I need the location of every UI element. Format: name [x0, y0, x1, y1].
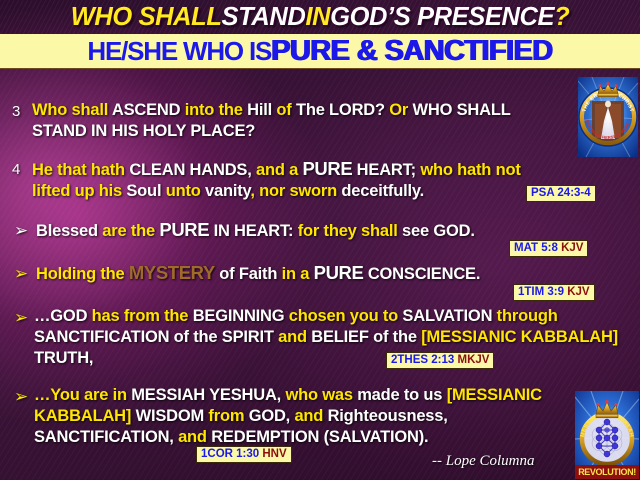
- citation-matthew: MAT 5:8 KJV: [509, 240, 588, 257]
- bullet-4-run-6: from: [208, 407, 248, 425]
- bullet-4-run-8: and: [294, 407, 327, 425]
- messianic-kabbalah-logo[interactable]: MESSIANIC KABBALAH REVOLUTION!: [575, 391, 639, 479]
- bullet-4-run-3: made to us: [357, 386, 447, 404]
- header-run-3: IN: [305, 3, 330, 32]
- bullet-4-run-10: and: [178, 428, 211, 446]
- verse-3-run-4: of: [276, 101, 296, 119]
- bullet-arrow-icon-3: ➢: [14, 309, 28, 326]
- bullet-1-run-4: for they shall: [298, 222, 402, 240]
- verse-3-run-6: Or: [389, 101, 412, 119]
- bullet-arrow-icon-1: ➢: [14, 222, 28, 239]
- verse-4-run-8: vanity: [205, 182, 250, 200]
- bullet-2-run-1: MYSTERY: [129, 262, 215, 283]
- verse-4-run-4: HEART;: [352, 161, 420, 179]
- bullet-4-text: …You are in MESSIAH YESHUA, who was made…: [34, 385, 582, 448]
- verse-4-number: 4: [12, 161, 20, 178]
- citation-thessalonians-version: MKJV: [457, 354, 489, 366]
- bullet-2-run-3: in a: [282, 265, 314, 283]
- bullet-4-run-0: …You are in: [34, 386, 131, 404]
- header-run-5: ?: [554, 3, 569, 32]
- bullet-4-run-2: who was: [285, 386, 357, 404]
- header-subtitle-band: HE/SHE WHO IS PURE & SANCTIFIED: [0, 34, 640, 69]
- slide-canvas: WHO SHALL STAND IN GOD’S PRESENCE? HE/SH…: [0, 0, 640, 480]
- bullet-2-text: Holding the MYSTERY of Faith in a PURE C…: [36, 262, 616, 285]
- bullet-3-run-6: SANCTIFICATION of the SPIRIT: [34, 328, 278, 346]
- bullet-1-run-1: are the: [102, 222, 159, 240]
- verse-4-run-10: deceitfully.: [341, 182, 424, 200]
- bullet-2-run-2: of Faith: [215, 265, 282, 283]
- citation-psalms-ref: PSA 24:3-4: [531, 187, 591, 199]
- citation-matthew-ref: MAT 5:8: [514, 242, 558, 254]
- bullet-1-run-3: IN HEART:: [209, 222, 298, 240]
- bullet-3-run-7: and: [278, 328, 311, 346]
- citation-thessalonians: 2THES 2:13 MKJV: [386, 352, 494, 369]
- header-title-line1: WHO SHALL STAND IN GOD’S PRESENCE?: [0, 0, 640, 34]
- messianic-kabbalah-seal-icon: MESSIANIC KABBALAH REVOLUTION!: [575, 391, 639, 479]
- header-run-2: STAND: [222, 3, 306, 32]
- header-subtitle-emphasis: PURE & SANCTIFIED: [271, 35, 552, 68]
- verse-3-run-0: Who shall: [32, 101, 112, 119]
- bullet-2-run-4: PURE: [314, 262, 364, 283]
- header-run-1: WHO SHALL: [71, 3, 222, 32]
- attribution-text: -- Lope Columna: [432, 453, 535, 470]
- verse-4-run-7: unto: [166, 182, 205, 200]
- bullet-3-run-9: [MESSIANIC KABBALAH]: [421, 328, 618, 346]
- bride-of-christ-logo[interactable]: THE BRIDE OF CHRIST HAS MADE HERSELF REA…: [578, 77, 638, 157]
- citation-corinthians-ref: 1COR 1:30: [201, 448, 259, 460]
- bullet-3-run-0: …GOD: [34, 307, 92, 325]
- bullet-3-run-5: through: [497, 307, 558, 325]
- verse-4-run-1: CLEAN HANDS,: [129, 161, 251, 179]
- citation-timothy-version: KJV: [567, 286, 589, 298]
- citation-corinthians-version: HNV: [262, 448, 286, 460]
- bullet-1-text: Blessed are the PURE IN HEART: for they …: [36, 219, 596, 242]
- bullet-2-run-5: CONSCIENCE.: [363, 265, 480, 283]
- verse-4-run-9: , nor sworn: [250, 182, 341, 200]
- bullet-2-run-0: Holding the: [36, 265, 129, 283]
- bullet-3-run-8: BELIEF of the: [311, 328, 421, 346]
- revolution-banner-text: REVOLUTION!: [578, 467, 636, 477]
- bullet-3-text: …GOD has from the BEGINNING chosen you t…: [34, 306, 634, 369]
- verse-3-run-3: Hill: [247, 101, 276, 119]
- bullet-1-run-2: PURE: [159, 219, 209, 240]
- bullet-3-run-2: BEGINNING: [193, 307, 289, 325]
- bullet-arrow-icon-2: ➢: [14, 265, 28, 282]
- bullet-1-run-0: Blessed: [36, 222, 102, 240]
- verse-4-run-6: Soul: [126, 182, 165, 200]
- verse-3-run-2: into the: [185, 101, 247, 119]
- citation-matthew-version: KJV: [561, 242, 583, 254]
- bullet-arrow-icon-4: ➢: [14, 388, 28, 405]
- bullet-3-run-4: SALVATION: [402, 307, 496, 325]
- verse-3-text: Who shall ASCEND into the Hill of The LO…: [32, 100, 542, 142]
- bullet-3-run-3: chosen you to: [289, 307, 403, 325]
- verse-3-run-5: The LORD?: [296, 101, 389, 119]
- citation-corinthians: 1COR 1:30 HNV: [196, 446, 292, 463]
- bullet-4-run-7: GOD,: [249, 407, 295, 425]
- verse-4-run-2: and a: [252, 161, 303, 179]
- verse-4-run-3: PURE: [302, 158, 352, 179]
- bullet-1-run-5: see GOD.: [402, 222, 475, 240]
- bullet-4-run-5: WISDOM: [136, 407, 209, 425]
- citation-psalms: PSA 24:3-4: [526, 185, 596, 202]
- bride-of-christ-seal-icon: THE BRIDE OF CHRIST HAS MADE HERSELF REA…: [578, 77, 638, 157]
- header-subtitle-lead: HE/SHE WHO IS: [87, 36, 271, 67]
- header-run-4: GOD’S PRESENCE: [330, 3, 554, 32]
- verse-4-run-0: He that hath: [32, 161, 129, 179]
- citation-timothy-ref: 1TIM 3:9: [518, 286, 564, 298]
- citation-thessalonians-ref: 2THES 2:13: [391, 354, 454, 366]
- verse-4-text: He that hath CLEAN HANDS, and a PURE HEA…: [32, 158, 544, 202]
- bullet-3-run-10: TRUTH,: [34, 349, 93, 367]
- verse-3-run-1: ASCEND: [112, 101, 185, 119]
- bullet-3-run-1: has from the: [92, 307, 193, 325]
- bullet-4-run-11: REDEMPTION (SALVATION).: [211, 428, 428, 446]
- bullet-4-run-1: MESSIAH YESHUA,: [131, 386, 285, 404]
- verse-3-number: 3: [12, 103, 20, 120]
- citation-timothy: 1TIM 3:9 KJV: [513, 284, 595, 301]
